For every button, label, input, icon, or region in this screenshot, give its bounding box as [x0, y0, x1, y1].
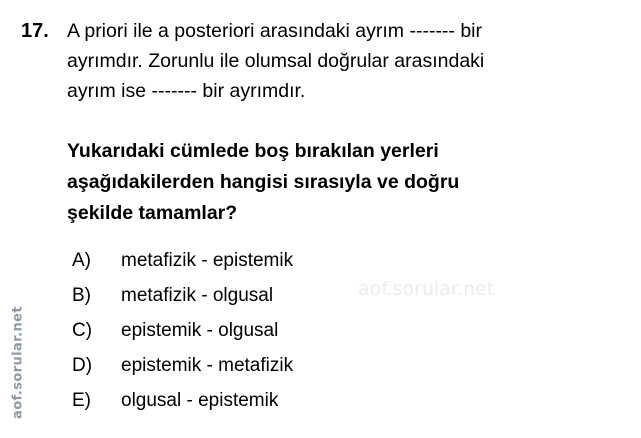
answer-options-list: A) metafizik - epistemik B) metafizik - …: [0, 243, 641, 418]
option-b-letter: B): [72, 278, 91, 313]
option-e-text: olgusal - epistemik: [121, 383, 278, 418]
option-c[interactable]: C) epistemik - olgusal: [0, 313, 641, 348]
option-d-letter: D): [72, 348, 92, 383]
option-e[interactable]: E) olgusal - epistemik: [0, 383, 641, 418]
option-c-text: epistemik - olgusal: [121, 313, 278, 348]
question-prompt: Yukarıdaki cümlede boş bırakılan yerleri…: [67, 136, 618, 229]
exam-question-page: aof.sorular.net aof.sorular.net 17. A pr…: [0, 0, 641, 438]
question-number: 17.: [21, 16, 49, 46]
option-b-text: metafizik - olgusal: [121, 278, 273, 313]
option-b[interactable]: B) metafizik - olgusal: [0, 278, 641, 313]
stem-line-1: A priori ile a posteriori arasındaki ayr…: [67, 16, 618, 46]
option-d[interactable]: D) epistemik - metafizik: [0, 348, 641, 383]
prompt-line-3: şekilde tamamlar?: [67, 198, 618, 229]
option-e-letter: E): [72, 383, 91, 418]
stem-line-3: ayrım ise ------- bir ayrımdır.: [67, 76, 618, 106]
question-stem: A priori ile a posteriori arasındaki ayr…: [67, 16, 618, 106]
option-a-text: metafizik - epistemik: [121, 243, 293, 278]
option-a-letter: A): [72, 243, 91, 278]
option-a[interactable]: A) metafizik - epistemik: [0, 243, 641, 278]
prompt-line-1: Yukarıdaki cümlede boş bırakılan yerleri: [67, 136, 618, 167]
stem-line-2: ayrımdır. Zorunlu ile olumsal doğrular a…: [67, 46, 618, 76]
prompt-line-2: aşağıdakilerden hangisi sırasıyla ve doğ…: [67, 167, 618, 198]
option-d-text: epistemik - metafizik: [121, 348, 293, 383]
option-c-letter: C): [72, 313, 92, 348]
